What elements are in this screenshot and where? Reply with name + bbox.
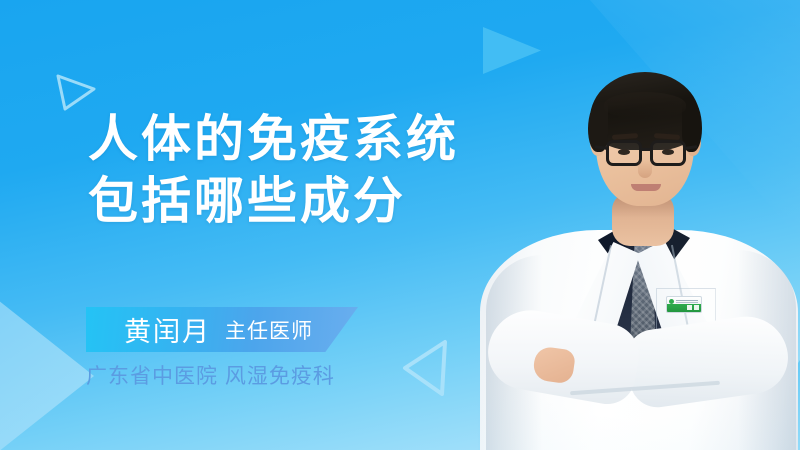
- id-badge-square-two: [694, 305, 699, 310]
- id-badge-text-lines: [676, 300, 698, 301]
- doctor-portrait: [478, 30, 800, 450]
- doctor-affiliation: 广东省中医院 风湿免疫科: [86, 360, 335, 390]
- id-badge-logo: [669, 299, 674, 304]
- doctor-name: 黄闰月: [124, 310, 211, 349]
- eyeglasses-lens-left: [606, 140, 642, 166]
- eyeglasses-bridge: [641, 148, 651, 151]
- wedge-bottom-left-icon: [0, 300, 94, 450]
- eyeglasses-lens-right: [650, 140, 686, 166]
- nose: [638, 160, 652, 178]
- id-badge-square-one: [687, 305, 692, 310]
- page-title: 人体的免疫系统 包括哪些成分: [88, 108, 518, 232]
- id-badge-icon: [666, 296, 702, 313]
- triangle-outline-right-icon: [55, 72, 97, 112]
- video-thumbnail-card: 人体的免疫系统 包括哪些成分 黄闰月 主任医师 广东省中医院 风湿免疫科: [0, 0, 800, 450]
- title-line-2: 包括哪些成分: [88, 170, 518, 232]
- mouth: [631, 184, 661, 191]
- triangle-outline-left-icon: [402, 338, 449, 398]
- title-line-1: 人体的免疫系统: [88, 108, 518, 170]
- hair-fringe: [604, 92, 686, 118]
- doctor-name-banner: 黄闰月 主任医师: [86, 307, 358, 352]
- doctor-rank: 主任医师: [225, 315, 313, 345]
